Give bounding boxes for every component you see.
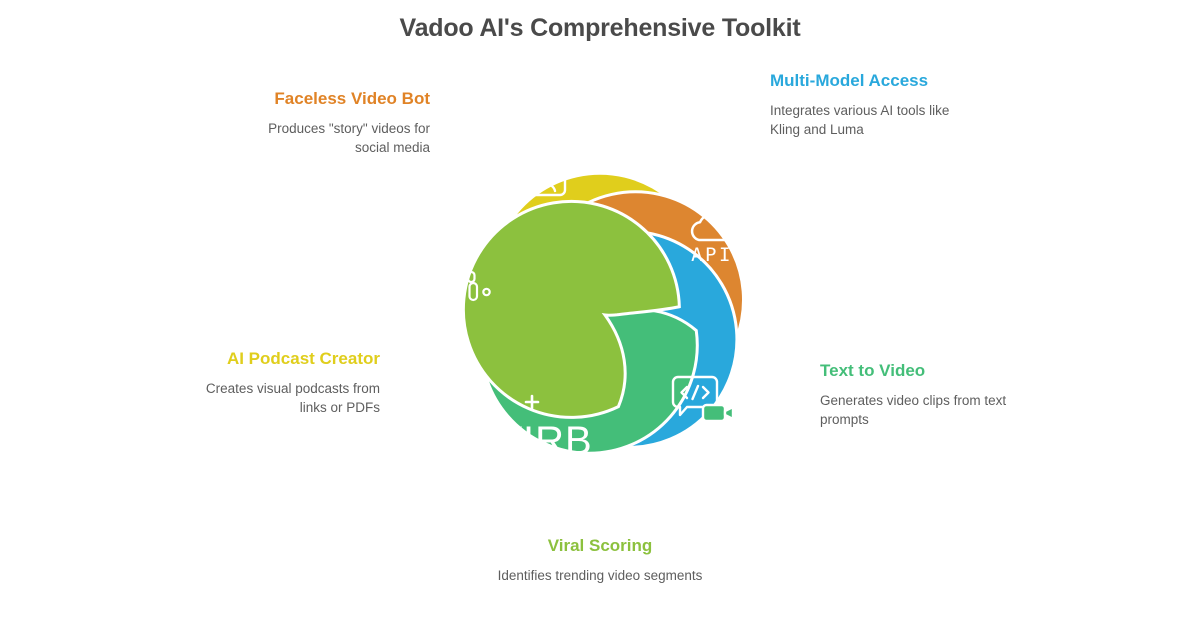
- callout-title-faceless-video-bot: Faceless Video Bot: [230, 88, 430, 110]
- callout-description-viral-scoring: Identifies trending video segments: [480, 566, 720, 585]
- callout-title-ai-podcast-creator: AI Podcast Creator: [180, 348, 380, 370]
- cloud-api-icon-label: API: [691, 244, 733, 266]
- callout-title-multi-model-access: Multi-Model Access: [770, 70, 950, 92]
- callout-description-text-to-video: Generates video clips from text prompts: [820, 391, 1020, 429]
- callout-description-faceless-video-bot: Produces "story" videos for social media: [230, 119, 430, 157]
- pinwheel-svg: API VIRB: [390, 100, 820, 530]
- callout-faceless-video-bot[interactable]: Faceless Video Bot Produces "story" vide…: [230, 88, 430, 157]
- callout-multi-model-access[interactable]: Multi-Model Access Integrates various AI…: [770, 70, 950, 139]
- callout-text-to-video[interactable]: Text to Video Generates video clips from…: [820, 360, 1020, 429]
- callout-title-viral-scoring: Viral Scoring: [480, 535, 720, 557]
- virb-wordmark-label: VIRB: [495, 419, 592, 463]
- page-title: Vadoo AI's Comprehensive Toolkit: [0, 14, 1200, 43]
- toolkit-pinwheel-diagram: API VIRB: [390, 100, 820, 530]
- callout-viral-scoring[interactable]: Viral Scoring Identifies trending video …: [480, 535, 720, 585]
- callout-ai-podcast-creator[interactable]: AI Podcast Creator Creates visual podcas…: [180, 348, 380, 417]
- callout-description-ai-podcast-creator: Creates visual podcasts from links or PD…: [180, 379, 380, 417]
- callout-title-text-to-video: Text to Video: [820, 360, 1020, 382]
- callout-description-multi-model-access: Integrates various AI tools like Kling a…: [770, 101, 950, 139]
